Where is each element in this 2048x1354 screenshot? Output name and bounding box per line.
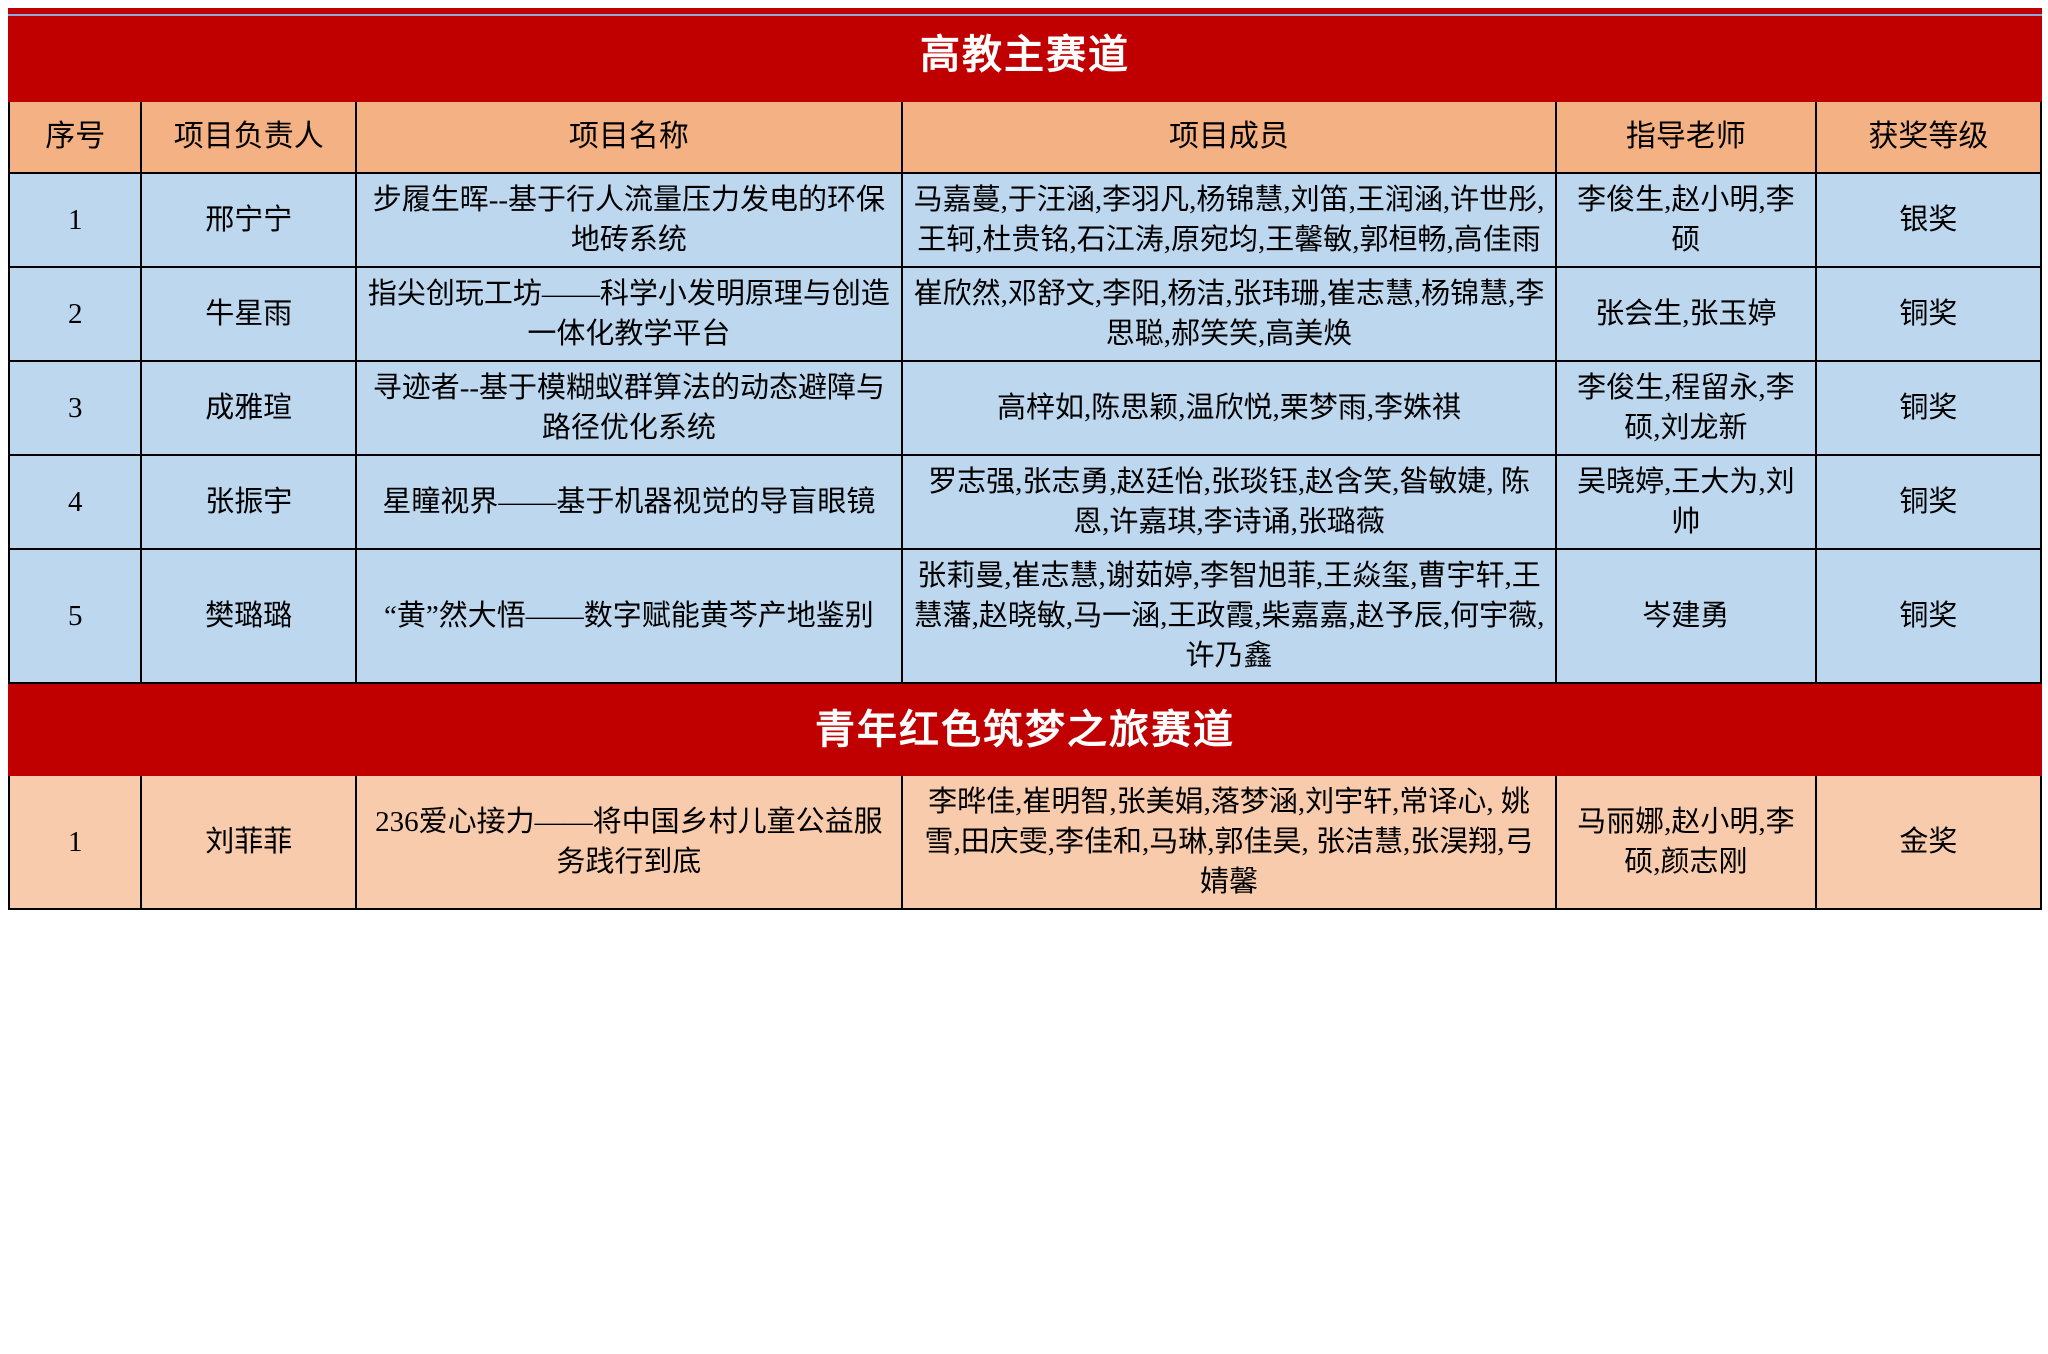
- cell-members: 马嘉蔓,于汪涵,李羽凡,杨锦慧,刘笛,王润涵,许世彤,王轲,杜贵铭,石江涛,原宛…: [902, 173, 1556, 267]
- cell-leader: 樊璐璐: [141, 549, 356, 683]
- cell-leader: 成雅瑄: [141, 361, 356, 455]
- cell-leader: 刘菲菲: [141, 775, 356, 909]
- top-accent-line: [8, 14, 2042, 16]
- cell-leader: 张振宇: [141, 455, 356, 549]
- cell-project: 寻迹者--基于模糊蚁群算法的动态避障与路径优化系统: [356, 361, 902, 455]
- column-header-award: 获奖等级: [1816, 101, 2041, 173]
- cell-advisor: 马丽娜,赵小明,李硕,颜志刚: [1556, 775, 1816, 909]
- cell-leader: 牛星雨: [141, 267, 356, 361]
- column-header-row: 序号项目负责人项目名称项目成员指导老师获奖等级: [9, 101, 2041, 173]
- cell-award: 金奖: [1816, 775, 2041, 909]
- table-row: 4张振宇星瞳视界——基于机器视觉的导盲眼镜罗志强,张志勇,赵廷怡,张琰钰,赵含笑…: [9, 455, 2041, 549]
- cell-members: 罗志强,张志勇,赵廷怡,张琰钰,赵含笑,昝敏婕, 陈恩,许嘉琪,李诗诵,张璐薇: [902, 455, 1556, 549]
- cell-index: 1: [9, 173, 141, 267]
- table-row: 1邢宁宁步履生晖--基于行人流量压力发电的环保地砖系统马嘉蔓,于汪涵,李羽凡,杨…: [9, 173, 2041, 267]
- column-header-members: 项目成员: [902, 101, 1556, 173]
- section-title: 高教主赛道: [9, 9, 2041, 101]
- cell-index: 5: [9, 549, 141, 683]
- section-title: 青年红色筑梦之旅赛道: [9, 683, 2041, 775]
- column-header-advisor: 指导老师: [1556, 101, 1816, 173]
- cell-project: 指尖创玩工坊——科学小发明原理与创造一体化教学平台: [356, 267, 902, 361]
- cell-award: 银奖: [1816, 173, 2041, 267]
- cell-award: 铜奖: [1816, 455, 2041, 549]
- cell-members: 李晔佳,崔明智,张美娟,落梦涵,刘宇轩,常译心, 姚雪,田庆雯,李佳和,马琳,郭…: [902, 775, 1556, 909]
- cell-award: 铜奖: [1816, 267, 2041, 361]
- cell-project: 236爱心接力——将中国乡村儿童公益服务践行到底: [356, 775, 902, 909]
- column-header-index: 序号: [9, 101, 141, 173]
- column-header-project: 项目名称: [356, 101, 902, 173]
- award-list-sheet: 高教主赛道序号项目负责人项目名称项目成员指导老师获奖等级1邢宁宁步履生晖--基于…: [0, 8, 2048, 1354]
- cell-members: 张莉曼,崔志慧,谢茹婷,李智旭菲,王焱玺,曹宇轩,王慧藩,赵晓敏,马一涵,王政霞…: [902, 549, 1556, 683]
- cell-advisor: 岑建勇: [1556, 549, 1816, 683]
- cell-advisor: 吴晓婷,王大为,刘帅: [1556, 455, 1816, 549]
- cell-members: 崔欣然,邓舒文,李阳,杨洁,张玮珊,崔志慧,杨锦慧,李思聪,郝笑笑,高美焕: [902, 267, 1556, 361]
- table-row: 2牛星雨指尖创玩工坊——科学小发明原理与创造一体化教学平台崔欣然,邓舒文,李阳,…: [9, 267, 2041, 361]
- cell-advisor: 张会生,张玉婷: [1556, 267, 1816, 361]
- cell-project: “黄”然大悟——数字赋能黄芩产地鉴别: [356, 549, 902, 683]
- cell-project: 星瞳视界——基于机器视觉的导盲眼镜: [356, 455, 902, 549]
- table-row: 5樊璐璐“黄”然大悟——数字赋能黄芩产地鉴别张莉曼,崔志慧,谢茹婷,李智旭菲,王…: [9, 549, 2041, 683]
- cell-award: 铜奖: [1816, 361, 2041, 455]
- section-banner: 青年红色筑梦之旅赛道: [9, 683, 2041, 775]
- cell-advisor: 李俊生,程留永,李硕,刘龙新: [1556, 361, 1816, 455]
- section-banner: 高教主赛道: [9, 9, 2041, 101]
- award-table: 高教主赛道序号项目负责人项目名称项目成员指导老师获奖等级1邢宁宁步履生晖--基于…: [8, 8, 2042, 910]
- table-row: 1刘菲菲236爱心接力——将中国乡村儿童公益服务践行到底李晔佳,崔明智,张美娟,…: [9, 775, 2041, 909]
- table-row: 3成雅瑄寻迹者--基于模糊蚁群算法的动态避障与路径优化系统高梓如,陈思颖,温欣悦…: [9, 361, 2041, 455]
- cell-index: 2: [9, 267, 141, 361]
- cell-advisor: 李俊生,赵小明,李硕: [1556, 173, 1816, 267]
- cell-index: 1: [9, 775, 141, 909]
- cell-members: 高梓如,陈思颖,温欣悦,栗梦雨,李姝祺: [902, 361, 1556, 455]
- cell-project: 步履生晖--基于行人流量压力发电的环保地砖系统: [356, 173, 902, 267]
- column-header-leader: 项目负责人: [141, 101, 356, 173]
- cell-index: 3: [9, 361, 141, 455]
- cell-award: 铜奖: [1816, 549, 2041, 683]
- cell-leader: 邢宁宁: [141, 173, 356, 267]
- cell-index: 4: [9, 455, 141, 549]
